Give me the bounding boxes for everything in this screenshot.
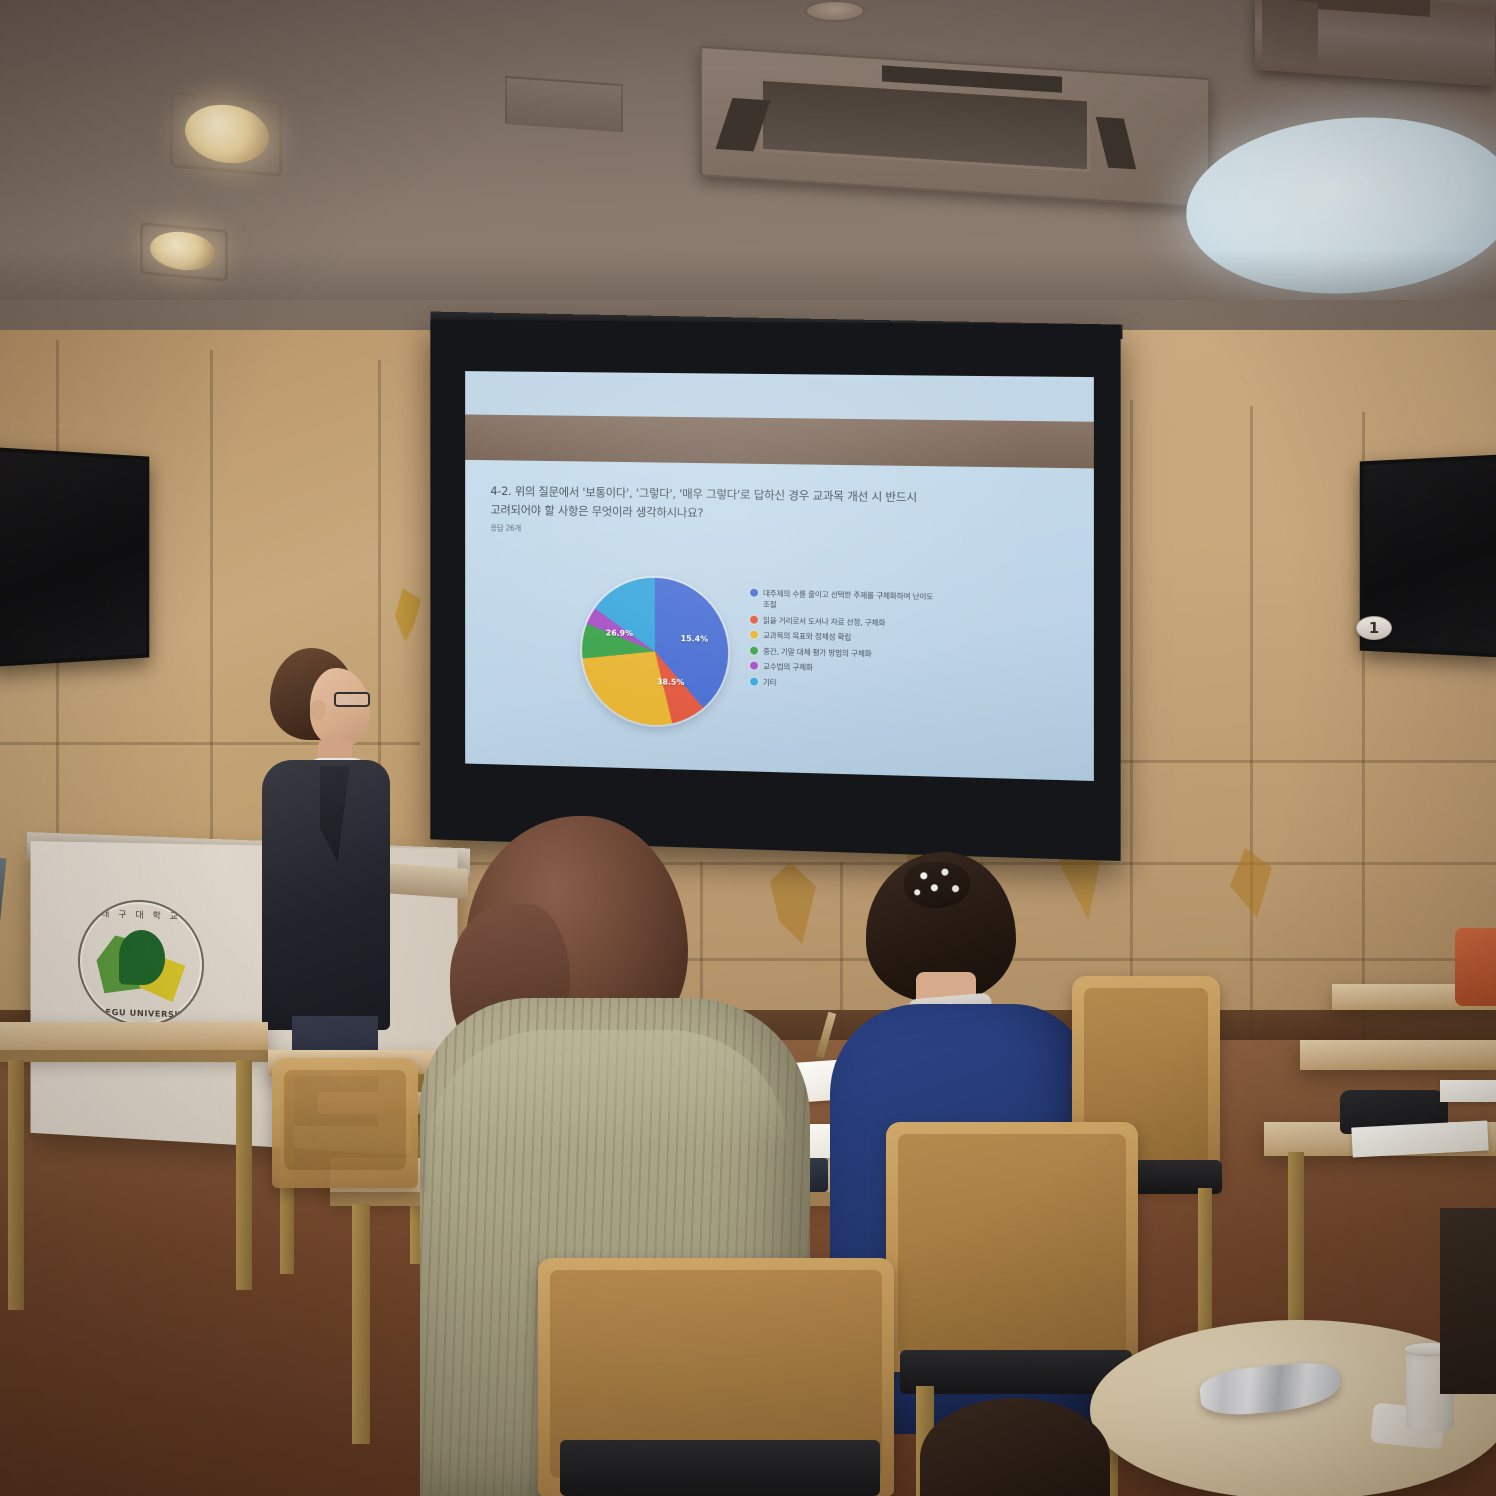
papers-on-table xyxy=(1440,1080,1496,1102)
chart-legend: 대주제의 수를 줄이고 선택한 주제를 구체화하여 난이도 조절읽을 거리로서 … xyxy=(750,588,942,692)
legend-label: 기타 xyxy=(763,676,777,687)
presenter-person xyxy=(258,648,408,1058)
legend-label: 교수법의 구체화 xyxy=(763,661,813,673)
legend-item: 교수법의 구체화 xyxy=(750,661,942,676)
table-leg xyxy=(352,1204,370,1444)
ceiling-vent xyxy=(1262,0,1318,65)
presenter-ear xyxy=(310,700,326,720)
pie-slices xyxy=(582,576,728,726)
legend-color-dot xyxy=(750,589,758,597)
projected-slide: 4-2. 위의 질문에서 '보통이다', '그렇다', '매우 그렇다'로 답하… xyxy=(465,371,1094,781)
slide-body: 4-2. 위의 질문에서 '보통이다', '그렇다', '매우 그렇다'로 답하… xyxy=(465,460,1094,781)
wooden-chair-back[interactable] xyxy=(886,1122,1138,1372)
ac-vent-right xyxy=(1096,117,1136,170)
legend-color-dot xyxy=(750,631,758,639)
legend-color-dot xyxy=(750,662,758,670)
pie-label-lightblue: 15.4% xyxy=(681,634,708,644)
red-chair xyxy=(1455,928,1496,1006)
logo-emblem-shape xyxy=(95,920,188,1006)
legend-color-dot xyxy=(750,646,758,654)
legend-color-dot xyxy=(750,677,758,685)
ac-grill xyxy=(760,78,1090,173)
projection-screen: 4-2. 위의 질문에서 '보통이다', '그렇다', '매우 그렇다'로 답하… xyxy=(430,320,1120,861)
legend-label: 중간, 기말 대체 평가 방법의 구체화 xyxy=(763,645,871,658)
legend-color-dot xyxy=(750,615,758,623)
dark-furniture-edge xyxy=(1440,1208,1496,1394)
chair-seat[interactable] xyxy=(560,1440,880,1496)
table-leg xyxy=(236,1060,252,1290)
legend-item: 기타 xyxy=(750,676,942,692)
table-left-edge xyxy=(0,1050,268,1062)
pie-chart: 38.5% 26.9% 15.4% xyxy=(582,576,728,726)
ceiling-smoke-detector xyxy=(805,0,865,22)
wall-monitor-left xyxy=(0,447,149,667)
ceiling-access-panel xyxy=(505,76,623,132)
screen-surface: 4-2. 위의 질문에서 '보통이다', '그렇다', '매우 그렇다'로 답하… xyxy=(465,371,1094,781)
panel-seam xyxy=(1250,406,1253,1040)
panel-seam xyxy=(1130,400,1133,1040)
legend-label: 읽을 거리로서 도서나 자료 선정, 구체화 xyxy=(763,614,885,628)
daegu-university-logo: 대 구 대 학 교 DAEGU UNIVERSITY xyxy=(78,898,204,1028)
legend-item: 중간, 기말 대체 평가 방법의 구체화 xyxy=(750,645,942,660)
table-leg xyxy=(8,1060,24,1310)
table-right-mid xyxy=(1300,1040,1496,1070)
chair-backrest-panel xyxy=(284,1070,406,1170)
chair-backrest-panel xyxy=(898,1134,1126,1354)
chair-leg xyxy=(1198,1188,1212,1340)
pie-label-blue: 38.5% xyxy=(657,677,684,687)
legend-label: 교과목의 목표와 정체성 확립 xyxy=(763,630,851,643)
panel-seam xyxy=(1120,760,1496,763)
hair-clip-accessory xyxy=(904,862,970,908)
legend-label: 대주제의 수를 줄이고 선택한 주제를 구체화하여 난이도 조절 xyxy=(763,588,942,614)
wooden-chair-back[interactable] xyxy=(272,1058,418,1188)
monitor-number-badge: 1 xyxy=(1356,616,1392,640)
legend-item: 대주제의 수를 줄이고 선택한 주제를 구체화하여 난이도 조절 xyxy=(750,588,942,614)
pie-chart-area: 38.5% 26.9% 15.4% 대주제의 수를 줄이고 선택한 주제를 구체… xyxy=(465,570,1094,781)
legend-item: 읽을 거리로서 도서나 자료 선정, 구체화 xyxy=(750,614,942,629)
presenter-glasses xyxy=(334,692,370,707)
legend-item: 교과목의 목표와 정체성 확립 xyxy=(750,630,942,645)
seminar-room-photo: 1 4-2. 위의 질문에서 '보통이다', '그렇다', '매우 그렇다'로 … xyxy=(0,0,1496,1496)
pie-label-yellow: 26.9% xyxy=(606,628,633,638)
logo-dark-green-shape xyxy=(119,929,165,985)
